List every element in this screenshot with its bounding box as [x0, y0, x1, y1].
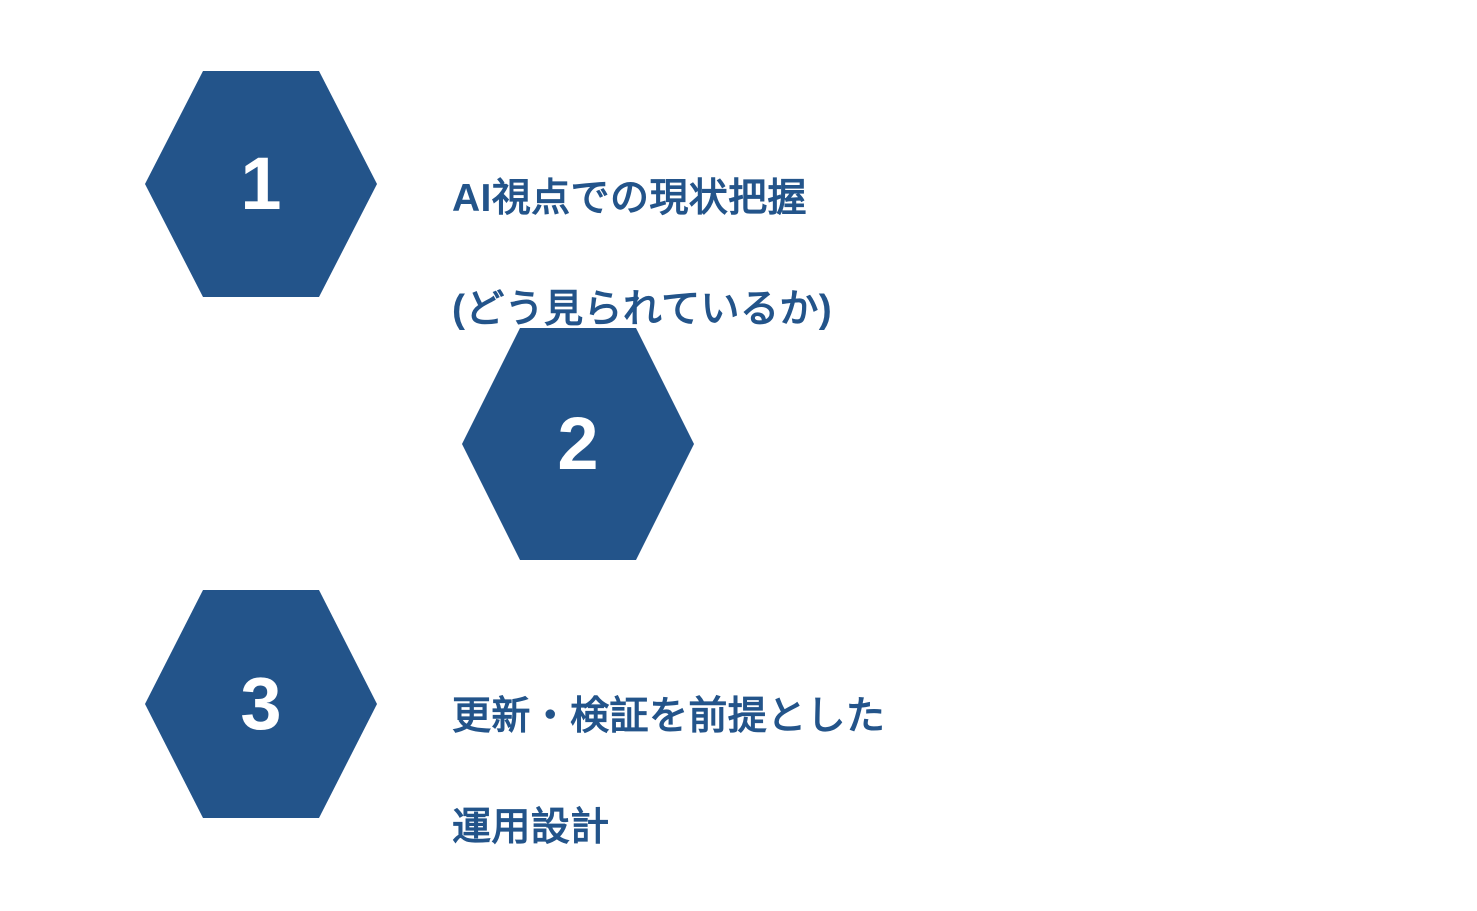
- step-row-1[interactable]: 1 AI視点での現状把握 (どう見られているか): [104, 72, 1114, 284]
- step-3-number: 3: [240, 667, 281, 741]
- step-3-label-line-2: 運用設計: [452, 800, 885, 855]
- step-row-2[interactable]: 2 優先度を絞った改善 (全体最適ではなく部分最適): [372, 340, 1384, 550]
- step-2-label-line-1: 優先度を絞った改善: [712, 435, 1211, 490]
- step-1-number-badge: 1: [145, 71, 377, 297]
- step-3-label-line-1: 更新・検証を前提とした: [452, 689, 885, 744]
- step-3-number-badge: 3: [145, 590, 377, 818]
- step-1-number: 1: [240, 147, 281, 221]
- step-diagram: 1 AI視点での現状把握 (どう見られているか) 2 優先度を絞った改善 (全体…: [0, 0, 1477, 871]
- step-3-label: 更新・検証を前提とした 運用設計: [452, 634, 885, 911]
- step-2-number: 2: [557, 407, 598, 481]
- step-row-3[interactable]: 3 更新・検証を前提とした 運用設計: [104, 592, 1120, 804]
- step-1-label-line-1: AI視点での現状把握: [452, 171, 832, 226]
- step-1-label-line-2: (どう見られているか): [452, 282, 832, 337]
- step-2-number-badge: 2: [462, 328, 694, 560]
